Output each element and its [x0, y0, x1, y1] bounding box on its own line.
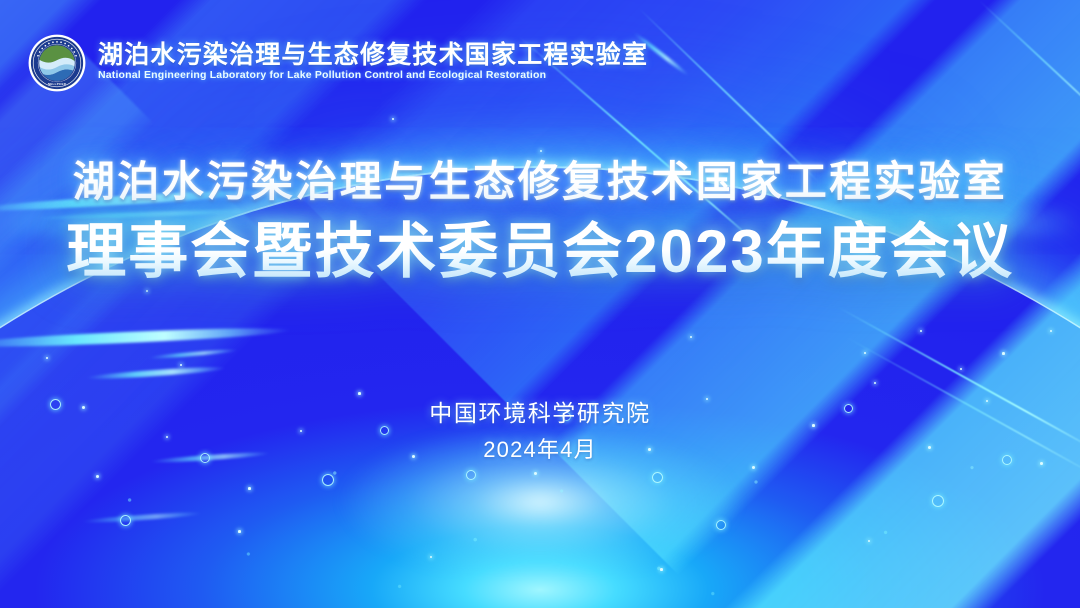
lab-name-cn: 湖泊水污染治理与生态修复技术国家工程实验室: [98, 42, 648, 68]
svg-text:NELLPCER: NELLPCER: [48, 82, 67, 86]
event-date: 2024年4月: [0, 435, 1080, 465]
poster-title-block: 湖泊水污染治理与生态修复技术国家工程实验室 理事会暨技术委员会2023年度会议: [0, 158, 1080, 285]
lab-emblem-logo: NELLPCER: [28, 34, 86, 92]
title-line-1: 湖泊水污染治理与生态修复技术国家工程实验室: [0, 158, 1080, 206]
organizer-name: 中国环境科学研究院: [0, 398, 1080, 429]
title-line-2: 理事会暨技术委员会2023年度会议: [0, 218, 1080, 285]
lab-header: NELLPCER 湖泊水污染治理与生态修复技术国家工程实验室 National …: [28, 34, 648, 92]
poster-subtitle-block: 中国环境科学研究院 2024年4月: [0, 398, 1080, 465]
lab-name-en: National Engineering Laboratory for Lake…: [98, 70, 648, 82]
conference-poster: NELLPCER 湖泊水污染治理与生态修复技术国家工程实验室 National …: [0, 0, 1080, 608]
lab-header-texts: 湖泊水污染治理与生态修复技术国家工程实验室 National Engineeri…: [98, 42, 648, 84]
lake-emblem-icon: NELLPCER: [28, 34, 86, 92]
